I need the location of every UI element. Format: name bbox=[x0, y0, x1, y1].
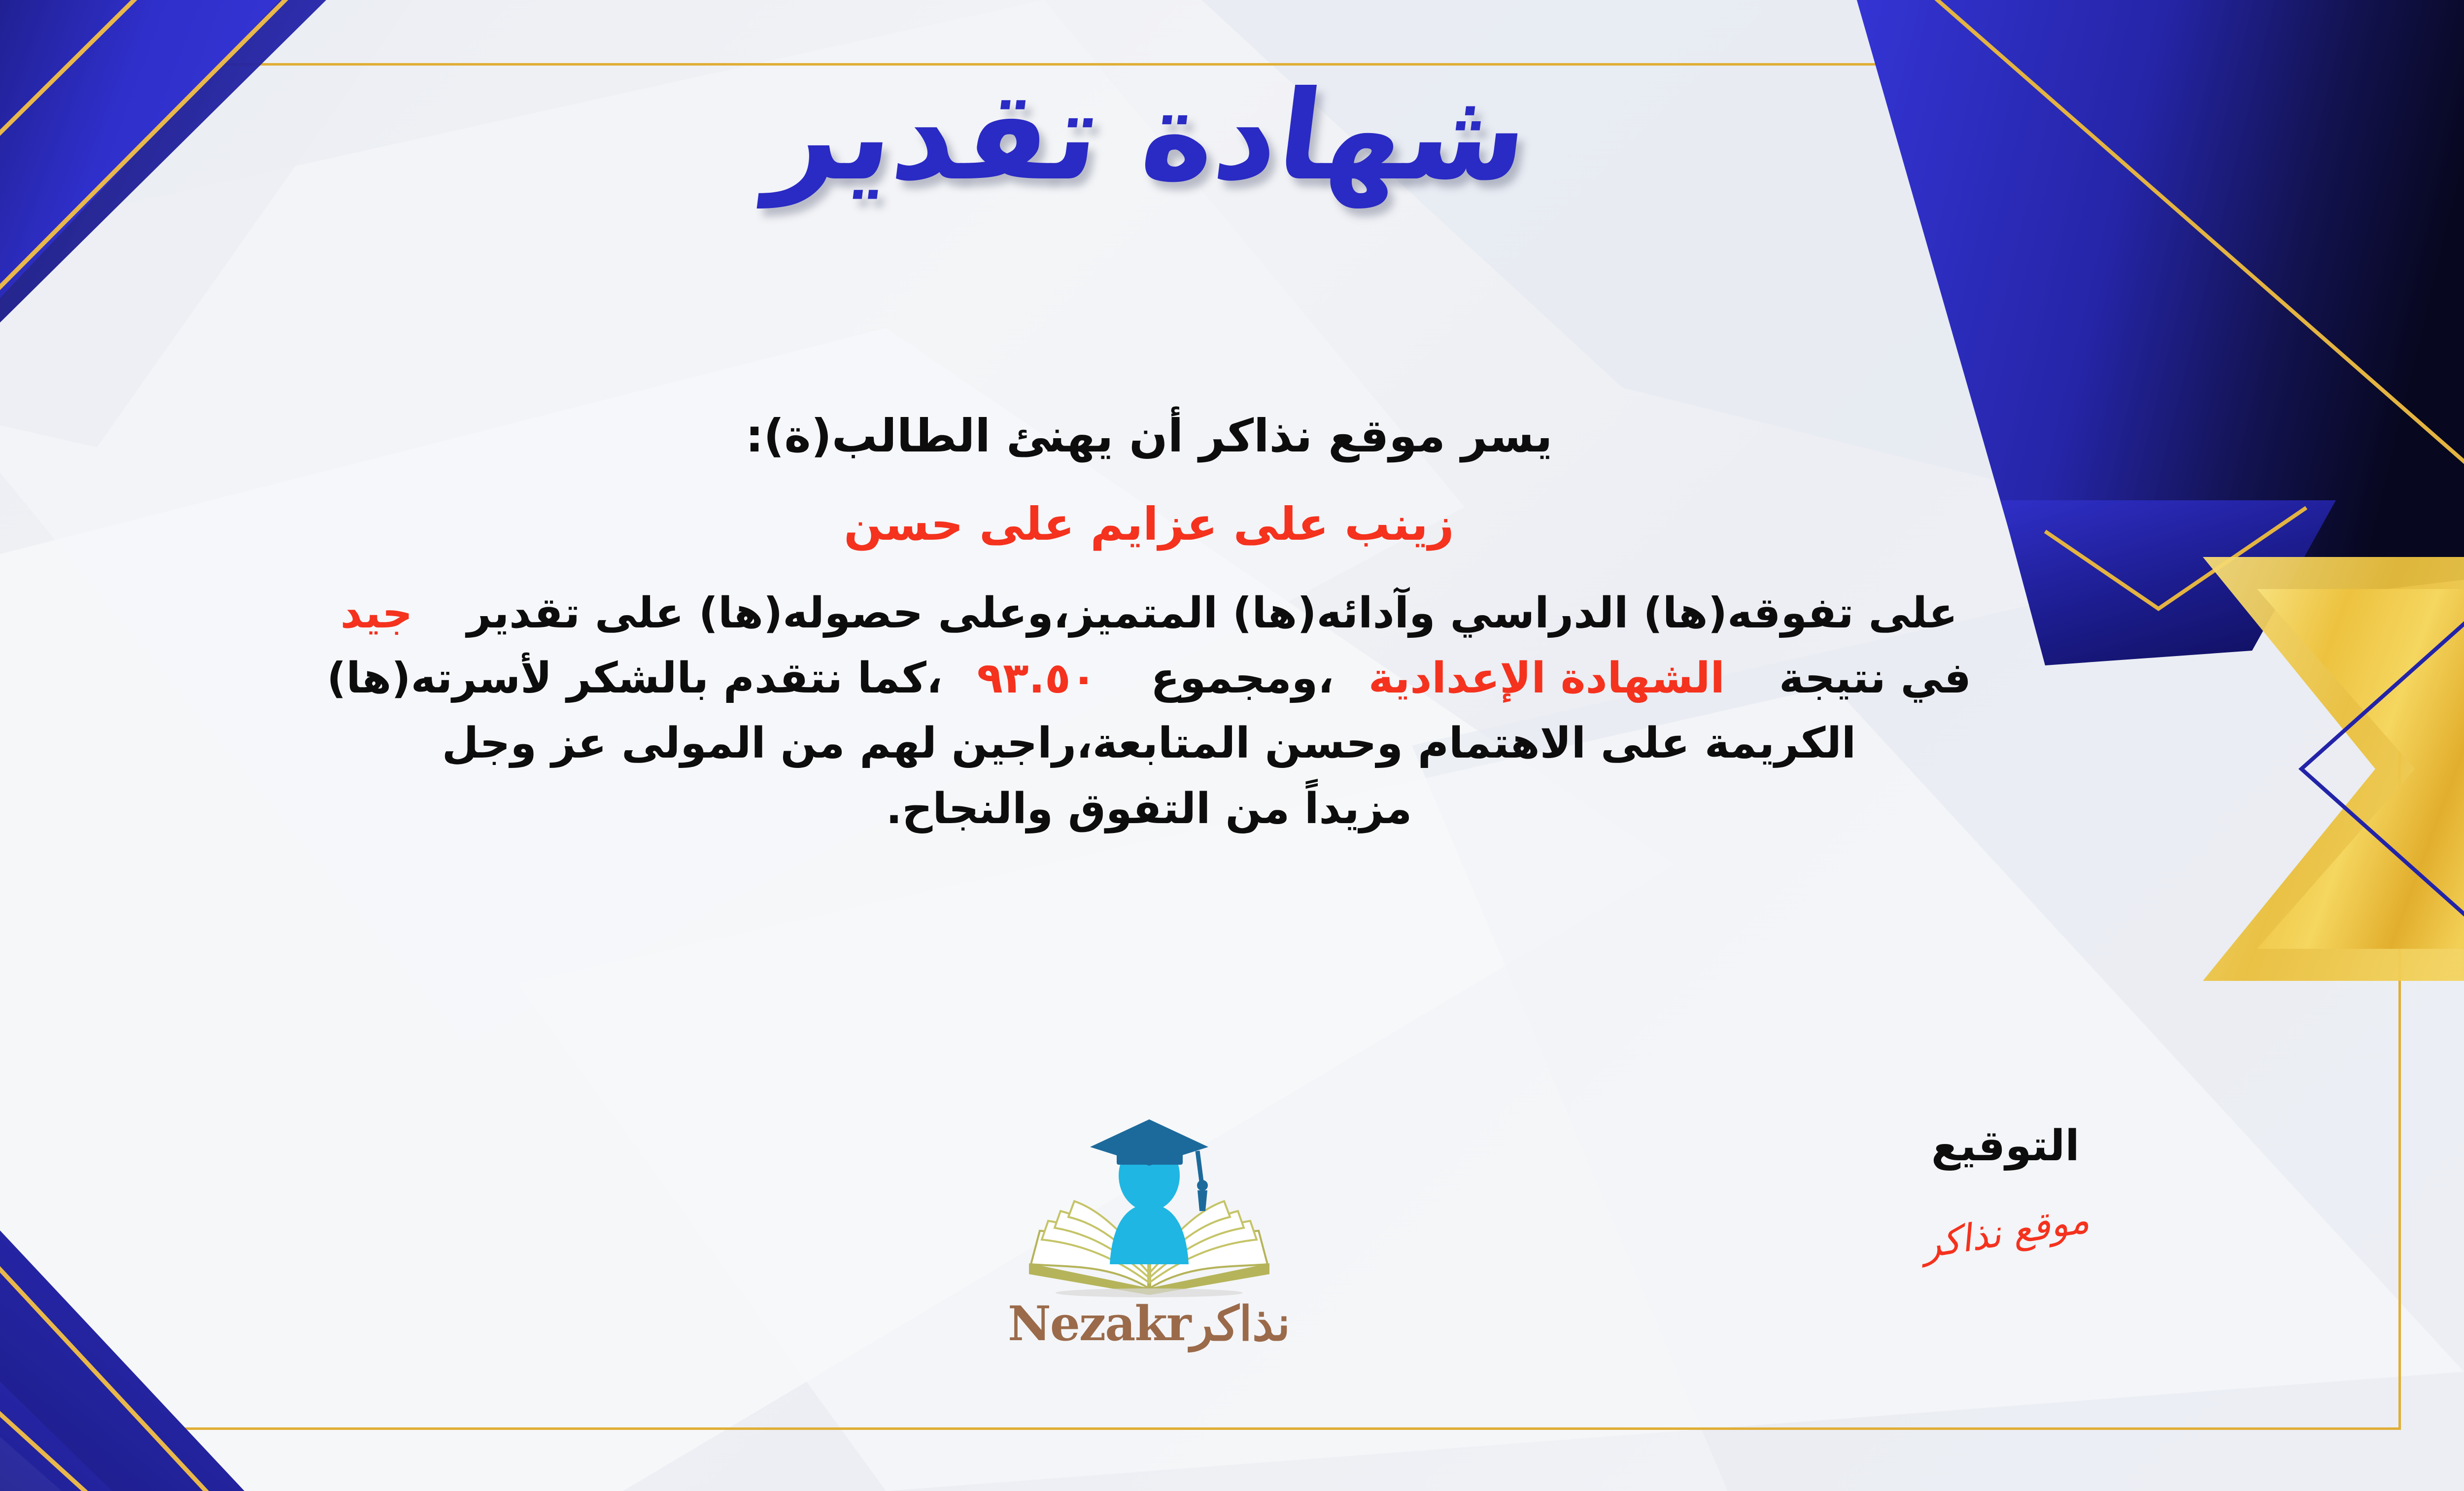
citation-line-1-text: على تفوقه(ها) الدراسي وآدائه(ها) المتميز… bbox=[467, 589, 1957, 638]
certificate-page: شهادة تقدير يسر موقع نذاكر أن يهنئ الطال… bbox=[0, 0, 2464, 1491]
certificate-body: يسر موقع نذاكر أن يهنئ الطالب(ة): زينب ع… bbox=[0, 404, 2316, 844]
citation-line-2-suffix: ،كما نتقدم بالشكر لأسرته(ها) bbox=[327, 654, 942, 703]
page-title: شهادة تقدير bbox=[761, 59, 1537, 213]
site-logo: Nezakrنذاكر bbox=[977, 1116, 1322, 1352]
logo-text-latin: Nezakr bbox=[1008, 1296, 1191, 1352]
signature-label: التوقيع bbox=[1921, 1121, 2089, 1171]
certificate-footer: التوقيع موقع نذاكر bbox=[0, 1121, 2316, 1397]
intro-line: يسر موقع نذاكر أن يهنئ الطالب(ة): bbox=[0, 404, 2316, 469]
grade-value: جيد bbox=[341, 589, 413, 638]
citation-line-2-mid: ،ومجموع bbox=[1151, 654, 1334, 703]
citation-line-2-prefix: في نتيجة bbox=[1779, 654, 1971, 703]
citation-paragraph: على تفوقه(ها) الدراسي وآدائه(ها) المتميز… bbox=[0, 583, 2316, 838]
citation-line-3: الكريمة على الاهتمام وحسن المتابعة،راجين… bbox=[0, 713, 2316, 773]
signature-mark: موقع نذاكر bbox=[1919, 1197, 2092, 1267]
citation-line-2: في نتيجةالشهادة الإعدادية،ومجموع٩٣.٥٠،كم… bbox=[0, 648, 2316, 708]
logo-wordmark: Nezakrنذاكر bbox=[977, 1296, 1322, 1352]
certificate-title-container: شهادة تقدير bbox=[0, 59, 2464, 213]
exam-name: الشهادة الإعدادية bbox=[1369, 654, 1725, 703]
signature-block: التوقيع موقع نذاكر bbox=[1921, 1121, 2089, 1254]
graduate-book-icon bbox=[1011, 1116, 1287, 1299]
citation-line-1: على تفوقه(ها) الدراسي وآدائه(ها) المتميز… bbox=[0, 583, 2316, 643]
student-name: زينب على عزايم على حسن bbox=[0, 492, 2316, 557]
total-score: ٩٣.٥٠ bbox=[977, 654, 1097, 703]
logo-text-arabic: نذاكر bbox=[1191, 1296, 1290, 1352]
citation-line-4: مزيداً من التفوق والنجاح. bbox=[0, 779, 2316, 839]
